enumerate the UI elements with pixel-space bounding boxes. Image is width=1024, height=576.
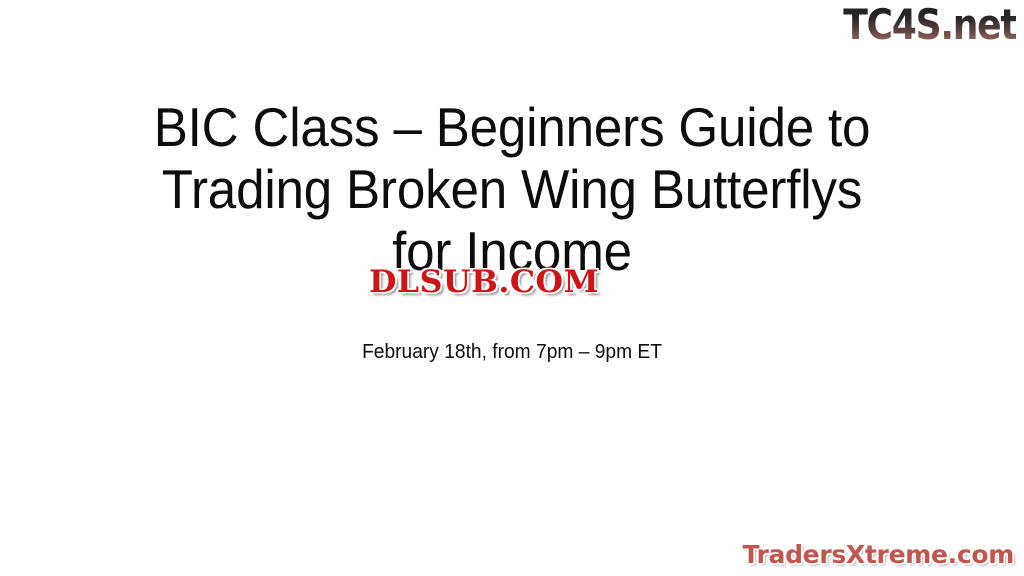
slide-title: BIC Class – Beginners Guide to Trading B… (0, 96, 1024, 282)
watermark-dlsub-com: DLSUB.COM (369, 264, 599, 300)
watermark-tradersxtreme-com: TradersXtreme.com (742, 540, 1014, 570)
presentation-slide: TC4S.net BIC Class – Beginners Guide to … (0, 0, 1024, 576)
title-line-1: BIC Class – Beginners Guide to (36, 96, 988, 158)
watermark-tc4s-net: TC4S.net (843, 2, 1016, 48)
title-line-2: Trading Broken Wing Butterflys (36, 158, 988, 220)
slide-subtitle: February 18th, from 7pm – 9pm ET (20, 339, 1003, 365)
